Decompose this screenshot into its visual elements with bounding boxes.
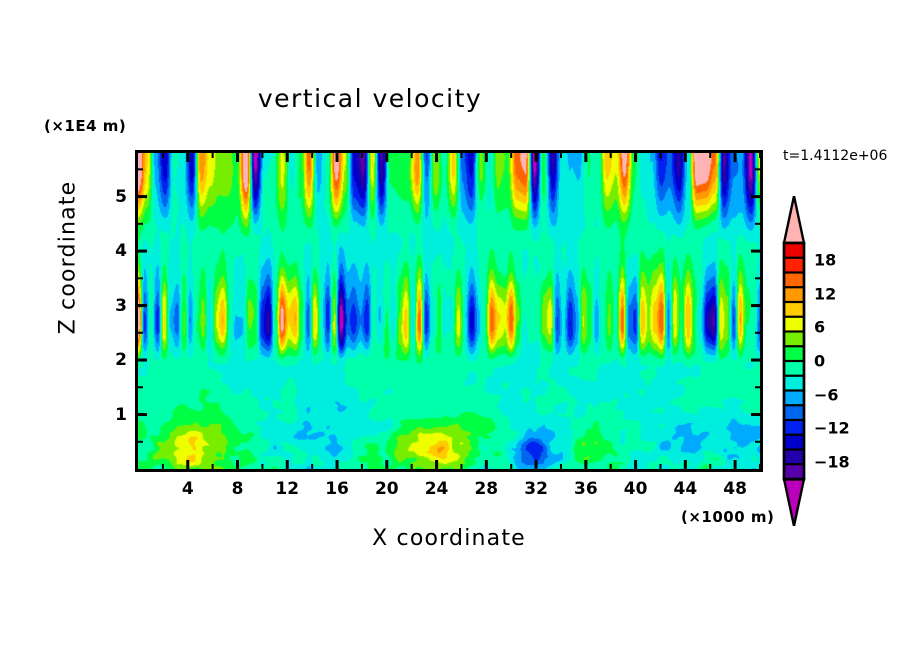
- colorbar-band: [784, 258, 804, 273]
- colorbar-band: [784, 361, 804, 376]
- contour-field: [138, 153, 760, 469]
- y-tick-label: 4: [103, 241, 127, 261]
- x-tick-label: 12: [275, 479, 299, 499]
- contour-plot-area: [135, 150, 763, 472]
- x-tick-label: 40: [624, 479, 648, 499]
- colorbar-band: [784, 435, 804, 450]
- colorbar-under-cap: [784, 479, 804, 526]
- colorbar-tick-label: 6: [814, 318, 825, 337]
- colorbar-band: [784, 243, 804, 258]
- x-tick-label: 8: [232, 479, 244, 499]
- colorbar-tick-label: 0: [814, 352, 825, 371]
- y-tick-label: 2: [103, 350, 127, 370]
- y-axis-unit-label: (×1E4 m): [44, 117, 126, 135]
- time-annotation: t=1.4112e+06: [783, 148, 887, 164]
- x-tick-label: 44: [674, 479, 698, 499]
- colorbar-band: [784, 346, 804, 361]
- colorbar-tick-label: −18: [814, 453, 850, 472]
- x-tick-label: 28: [474, 479, 498, 499]
- colorbar-band: [784, 391, 804, 406]
- colorbar-band: [784, 302, 804, 317]
- x-tick-label: 4: [182, 479, 194, 499]
- colorbar-band: [784, 317, 804, 332]
- colorbar: [782, 196, 806, 526]
- x-axis-unit-label: (×1000 m): [681, 508, 774, 526]
- x-tick-label: 24: [425, 479, 449, 499]
- colorbar-band: [784, 420, 804, 435]
- colorbar-band: [784, 464, 804, 479]
- colorbar-tick-label: 12: [814, 284, 836, 303]
- x-tick-label: 20: [375, 479, 399, 499]
- colorbar-band: [784, 405, 804, 420]
- colorbar-band: [784, 450, 804, 465]
- page-title: vertical velocity: [0, 84, 740, 113]
- y-tick-label: 3: [103, 296, 127, 316]
- x-tick-label: 16: [325, 479, 349, 499]
- x-tick-label: 36: [574, 479, 598, 499]
- x-tick-label: 32: [524, 479, 548, 499]
- y-axis-title: Z coordinate: [56, 163, 81, 353]
- colorbar-over-cap: [784, 196, 804, 243]
- colorbar-band: [784, 332, 804, 347]
- y-tick-label: 5: [103, 187, 127, 207]
- colorbar-band: [784, 287, 804, 302]
- figure-canvas: vertical velocity (×1E4 m) (×1000 m) t=1…: [0, 0, 904, 654]
- colorbar-tick-label: −6: [814, 385, 839, 404]
- colorbar-tick-label: −12: [814, 419, 850, 438]
- x-tick-label: 48: [723, 479, 747, 499]
- x-axis-title: X coordinate: [135, 526, 763, 551]
- colorbar-tick-label: 18: [814, 250, 836, 269]
- colorbar-band: [784, 273, 804, 288]
- colorbar-band: [784, 376, 804, 391]
- y-tick-label: 1: [103, 405, 127, 425]
